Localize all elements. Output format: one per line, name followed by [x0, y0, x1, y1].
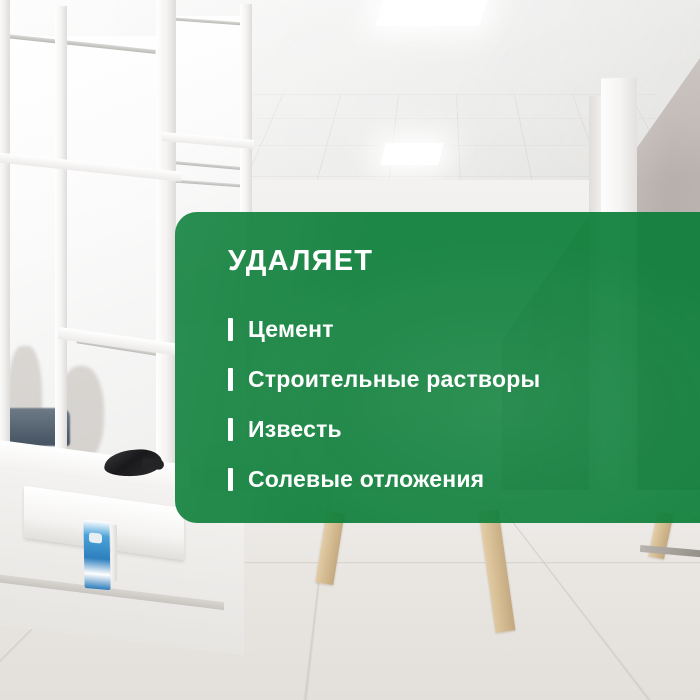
radiator-pipe [111, 525, 117, 581]
window-mullion [0, 0, 10, 496]
banner-feature-list: Цемент Строительные растворы Известь Сол… [228, 304, 678, 504]
list-item: Строительные растворы [228, 354, 678, 404]
vertical-bar-icon [228, 468, 233, 491]
list-item: Известь [228, 404, 678, 454]
vertical-bar-icon [228, 318, 233, 341]
black-plastic-bag-tail [142, 458, 165, 470]
promo-image: УДАЛЯЕТ Цемент Строительные растворы Изв… [0, 0, 700, 700]
window-glass [2, 36, 162, 466]
blue-package-cap [89, 532, 102, 543]
list-item-label: Солевые отложения [248, 468, 484, 491]
promo-banner: УДАЛЯЕТ Цемент Строительные растворы Изв… [175, 212, 700, 523]
led-panel-light [375, 0, 488, 26]
list-item-label: Цемент [248, 318, 334, 341]
vertical-bar-icon [228, 368, 233, 391]
list-item-label: Строительные растворы [248, 368, 540, 391]
banner-title: УДАЛЯЕТ [228, 247, 373, 276]
list-item-label: Известь [248, 418, 342, 441]
window-mullion [156, 0, 176, 478]
list-item: Солевые отложения [228, 454, 678, 504]
led-panel-light [380, 143, 443, 165]
vertical-bar-icon [228, 418, 233, 441]
window-mullion [55, 6, 67, 496]
blue-package [83, 520, 110, 590]
list-item: Цемент [228, 304, 678, 354]
